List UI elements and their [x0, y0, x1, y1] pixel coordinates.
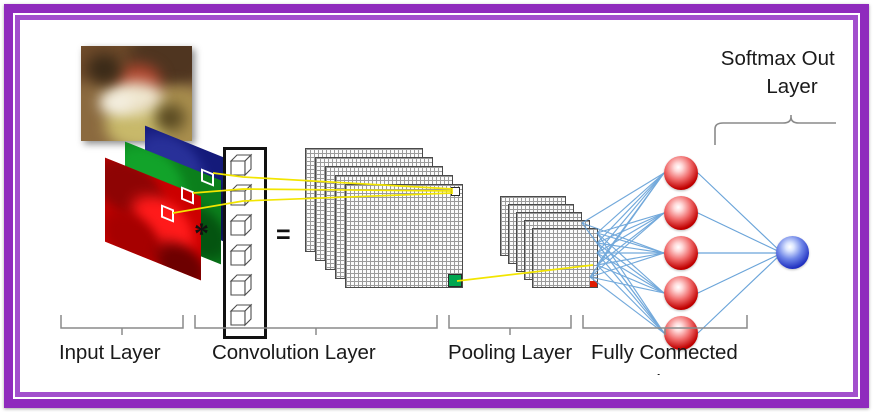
fc-neuron-3 [664, 236, 698, 270]
pooling-layer-label: Pooling Layer [448, 341, 572, 365]
softmax-connection-lines [698, 173, 782, 333]
softmax-bracket [713, 115, 836, 147]
diagram-canvas: * [37, 37, 836, 375]
frame-inner-white-mat: * [20, 20, 853, 392]
input-layer-label: Input Layer [59, 341, 160, 365]
fc-neuron-1 [664, 156, 698, 190]
frame-inner-bevel: * [13, 13, 860, 399]
fully-connected-layer-label-line2: Layer [656, 370, 707, 375]
purple-picture-frame: * [4, 4, 869, 408]
softmax-output-neuron [776, 236, 809, 269]
convolution-layer-label: Convolution Layer [212, 341, 376, 365]
layer-brackets [55, 313, 836, 335]
fc-neuron-4 [664, 276, 698, 310]
fully-connected-layer-label-line1: Fully Connected [591, 341, 738, 365]
softmax-output-layer-label: Softmax Output Layer [697, 45, 836, 100]
fc-neuron-2 [664, 196, 698, 230]
